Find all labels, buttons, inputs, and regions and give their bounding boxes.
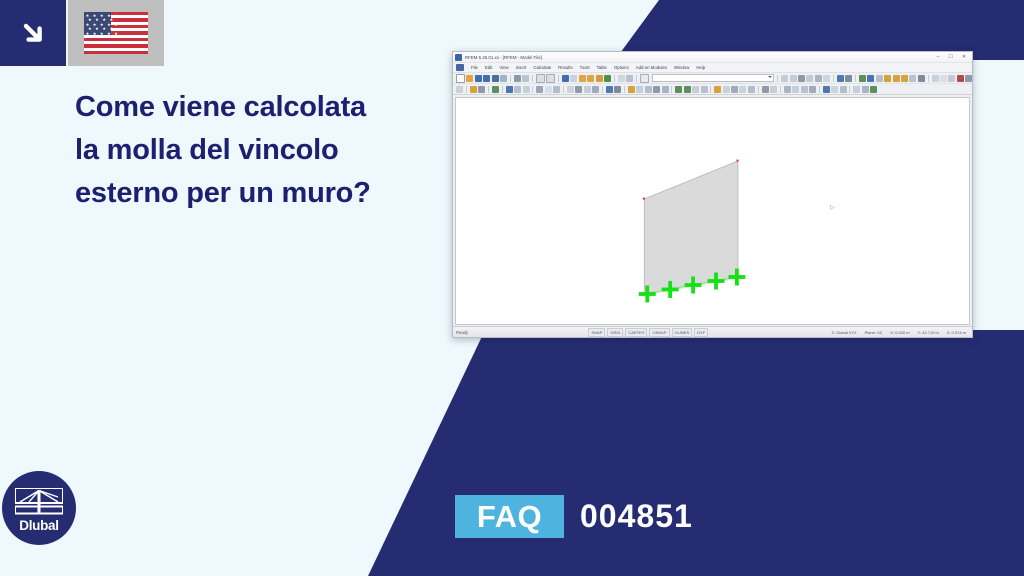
cross-section-icon[interactable] <box>662 86 669 93</box>
stress-icon[interactable] <box>748 86 755 93</box>
shading-icon[interactable] <box>823 75 830 82</box>
dimension-tool-icon[interactable] <box>862 86 869 93</box>
menu-item-results[interactable]: Results <box>558 65 572 70</box>
wall-model-3d <box>456 98 969 324</box>
display-nav-icon[interactable] <box>770 86 777 93</box>
free-load-icon[interactable] <box>645 86 652 93</box>
member-icon[interactable] <box>918 75 925 82</box>
node-tool-icon[interactable] <box>456 86 463 93</box>
calculation-param-icon[interactable] <box>731 86 738 93</box>
status-coord-y: Y: 43.719 m <box>915 330 942 335</box>
prev-view-icon[interactable] <box>781 75 788 82</box>
slide-stage: ★ ★ ★ ★ ★ ★ ★ ★ ★ ★ ★ ★ ★ ★ ★ ★ ★ ★ ★ ★ … <box>0 0 1024 576</box>
surface-load-icon[interactable] <box>628 86 635 93</box>
cut-icon[interactable] <box>514 75 521 82</box>
refresh-icon[interactable] <box>596 75 603 82</box>
status-cell-dxf[interactable]: DXF <box>694 328 708 337</box>
dlubal-logo-text: Dlubal <box>2 518 76 533</box>
guide-object-icon[interactable] <box>853 86 860 93</box>
menu-item-file[interactable]: File <box>471 65 478 70</box>
solid-icon[interactable] <box>815 75 822 82</box>
save-icon[interactable] <box>475 75 482 82</box>
print-preview-icon[interactable] <box>500 75 507 82</box>
status-cell-grid[interactable]: GRID <box>607 328 623 337</box>
truss-frame-icon <box>15 488 63 518</box>
status-coord-z: Z: 0.074 m <box>944 330 969 335</box>
open-icon[interactable] <box>466 75 473 82</box>
menu-item-addon-modules[interactable]: Add-on Modules <box>636 65 667 70</box>
page-title: Come viene calcolata la molla del vincol… <box>75 86 465 215</box>
material-icon[interactable] <box>675 86 682 93</box>
group-icon[interactable] <box>840 86 847 93</box>
language-flag-badge: ★ ★ ★ ★ ★ ★ ★ ★ ★ ★ ★ ★ ★ ★ ★ ★ ★ ★ ★ ★ … <box>68 0 164 66</box>
visibility-icon[interactable] <box>831 86 838 93</box>
dlubal-logo[interactable]: Dlubal <box>2 471 76 545</box>
dimension-icon[interactable] <box>867 75 874 82</box>
combination-icon[interactable] <box>948 75 955 82</box>
line-hinge-icon[interactable] <box>592 86 599 93</box>
mirror-icon[interactable] <box>801 86 808 93</box>
new-icon[interactable] <box>456 74 465 83</box>
result-icon[interactable] <box>957 75 964 82</box>
diagram-icon[interactable] <box>965 75 972 82</box>
color-settings-icon[interactable] <box>870 86 877 93</box>
opening-tool-icon[interactable] <box>545 86 552 93</box>
window-title: RFEM 5.26.01.xx - [RFEM - Model File] <box>465 55 937 60</box>
rotate-icon[interactable] <box>792 86 799 93</box>
table-icon[interactable] <box>640 74 649 83</box>
solid-tool-icon[interactable] <box>536 86 543 93</box>
mesh-settings-icon[interactable] <box>723 86 730 93</box>
toolbar-row-2[interactable] <box>453 84 972 95</box>
status-coord-x: X: 0.000 m <box>887 330 912 335</box>
layers-icon[interactable] <box>823 86 830 93</box>
status-cell-osnap[interactable]: OSNAP <box>649 328 669 337</box>
member-tool-icon[interactable] <box>514 86 521 93</box>
print-icon[interactable] <box>492 75 499 82</box>
member-load-icon[interactable] <box>636 86 643 93</box>
menu-item-options[interactable]: Options <box>614 65 629 70</box>
mouse-cursor-icon: ▷ <box>830 204 835 211</box>
menu-item-calculate[interactable]: Calculate <box>533 65 551 70</box>
line-tool-icon[interactable] <box>470 86 477 93</box>
status-cell-snap[interactable]: SNAP <box>588 328 605 337</box>
status-text: Ready <box>456 330 468 335</box>
menu-app-icon <box>456 64 464 71</box>
menu-item-view[interactable]: View <box>499 65 508 70</box>
lighting-icon[interactable] <box>837 75 844 82</box>
maximize-button[interactable]: ☐ <box>948 55 952 60</box>
zoom-out-icon[interactable] <box>579 75 586 82</box>
support-icon[interactable] <box>932 75 939 82</box>
polyline-tool-icon[interactable] <box>506 86 513 93</box>
status-view-info: Z: Global XYZ <box>828 330 859 335</box>
menu-item-insert[interactable]: Insert <box>516 65 527 70</box>
menu-item-tools[interactable]: Tools <box>580 65 590 70</box>
deselect-icon[interactable] <box>884 75 891 82</box>
nodal-support-icon[interactable] <box>553 86 560 93</box>
wireframe-icon[interactable] <box>806 75 813 82</box>
align-icon[interactable] <box>784 86 791 93</box>
status-cell-glines[interactable]: GLINES <box>672 328 693 337</box>
faq-number: 004851 <box>580 495 693 538</box>
wall-surface <box>644 161 738 294</box>
status-plane-info: Plane: XZ <box>862 330 886 335</box>
grid-icon[interactable] <box>604 75 611 82</box>
faq-badge: FAQ <box>455 495 564 538</box>
measure-icon[interactable] <box>859 75 866 82</box>
find-icon[interactable] <box>562 75 569 82</box>
surface-support-icon[interactable] <box>575 86 582 93</box>
close-button[interactable]: ✕ <box>962 55 966 60</box>
copy-icon[interactable] <box>522 75 529 82</box>
status-bar: Ready SNAP GRID CARTES OSNAP GLINES DXF … <box>453 326 972 337</box>
view-settings-icon[interactable] <box>762 86 769 93</box>
select-icon[interactable] <box>876 75 883 82</box>
menu-item-help[interactable]: Help <box>696 65 705 70</box>
undo-icon[interactable] <box>546 74 555 83</box>
deformation-icon[interactable] <box>739 86 746 93</box>
line-icon[interactable] <box>901 75 908 82</box>
status-cell-cartes[interactable]: CARTES <box>625 328 647 337</box>
load-combination-icon[interactable] <box>701 86 708 93</box>
line-load-icon[interactable] <box>614 86 621 93</box>
calculate-icon[interactable] <box>626 75 633 82</box>
app-icon <box>455 54 462 61</box>
nodal-load-icon[interactable] <box>606 86 613 93</box>
scale-icon[interactable] <box>809 86 816 93</box>
menu-item-table[interactable]: Table <box>597 65 607 70</box>
result-combination-icon[interactable] <box>714 86 721 93</box>
load-case-combo[interactable] <box>652 74 774 83</box>
paste-icon[interactable] <box>536 74 545 83</box>
arrow-badge <box>0 0 66 66</box>
faq-label: FAQ <box>477 499 542 535</box>
load-case-icon[interactable] <box>692 86 699 93</box>
zoom-window-icon[interactable] <box>587 75 594 82</box>
render-icon[interactable] <box>798 75 805 82</box>
arrow-down-right-icon <box>19 19 47 47</box>
circle-tool-icon[interactable] <box>492 86 499 93</box>
load-icon[interactable] <box>940 75 947 82</box>
headline-line-1: Come viene calcolata <box>75 86 465 129</box>
next-view-icon[interactable] <box>790 75 797 82</box>
headline-line-3: esterno per un muro? <box>75 172 465 215</box>
member-hinge-icon[interactable] <box>584 86 591 93</box>
window-titlebar: RFEM 5.26.01.xx - [RFEM - Model File] – … <box>453 52 972 63</box>
headline-line-2: la molla del vincolo <box>75 129 465 172</box>
snap-icon[interactable] <box>618 75 625 82</box>
surface-tool-icon[interactable] <box>523 86 530 93</box>
toolbar-row-1[interactable] <box>453 73 972 84</box>
menu-item-edit[interactable]: Edit <box>485 65 492 70</box>
imperfection-icon[interactable] <box>653 86 660 93</box>
save-as-icon[interactable] <box>483 75 490 82</box>
arc-tool-icon[interactable] <box>478 86 485 93</box>
menu-bar[interactable]: File Edit View Insert Calculate Results … <box>453 63 972 73</box>
line-support-icon[interactable] <box>567 86 574 93</box>
surface-icon[interactable] <box>909 75 916 82</box>
rfem-application-window[interactable]: RFEM 5.26.01.xx - [RFEM - Model File] – … <box>452 51 973 338</box>
minimize-button[interactable]: – <box>937 55 940 60</box>
section-icon[interactable] <box>845 75 852 82</box>
thickness-icon[interactable] <box>684 86 691 93</box>
model-canvas[interactable]: ▷ <box>455 97 970 325</box>
node-icon[interactable] <box>893 75 900 82</box>
zoom-in-icon[interactable] <box>570 75 577 82</box>
us-flag-icon: ★ ★ ★ ★ ★ ★ ★ ★ ★ ★ ★ ★ ★ ★ ★ ★ ★ ★ ★ ★ … <box>84 12 148 54</box>
menu-item-window[interactable]: Window <box>674 65 689 70</box>
